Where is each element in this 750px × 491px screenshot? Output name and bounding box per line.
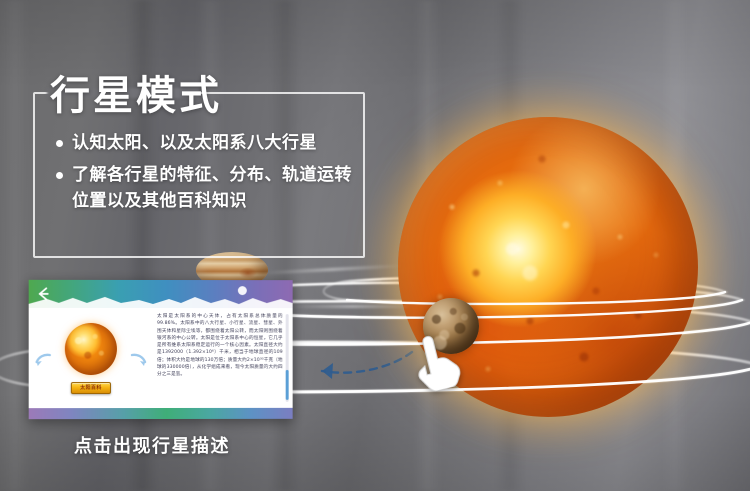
description-column: 太阳是太阳系的中心天体，占有太阳系总体质量的99.86%。太阳系中的八大行星、小…	[153, 308, 293, 408]
bullet-dot-icon	[56, 140, 63, 147]
list-item: 认知太阳、以及太阳系八大行星	[56, 130, 356, 156]
rotate-right-icon[interactable]	[129, 350, 149, 370]
mountain-icon	[29, 294, 293, 308]
planet-preview-column: 太阳百科	[29, 308, 153, 408]
bullet-text: 了解各行星的特征、分布、轨道运转位置以及其他百科知识	[72, 162, 356, 214]
bullet-dot-icon	[56, 172, 63, 179]
panel-caption: 点击出现行星描述	[74, 432, 230, 458]
bullet-text: 认知太阳、以及太阳系八大行星	[72, 130, 317, 156]
app-header-bar	[29, 280, 293, 308]
detail-button[interactable]: 太阳百科	[71, 382, 111, 394]
list-item: 了解各行星的特征、分布、轨道运转位置以及其他百科知识	[56, 162, 356, 214]
description-text: 太阳是太阳系的中心天体，占有太阳系总体质量的99.86%。太阳系中的八大行星、小…	[157, 313, 283, 379]
sun-preview-sphere[interactable]	[65, 322, 117, 374]
rotate-left-icon[interactable]	[33, 350, 53, 370]
page-title: 行星模式	[50, 63, 222, 121]
bullet-list: 认知太阳、以及太阳系八大行星 了解各行星的特征、分布、轨道运转位置以及其他百科知…	[56, 130, 356, 220]
slide-canvas: 行星模式 认知太阳、以及太阳系八大行星 了解各行星的特征、分布、轨道运转位置以及…	[0, 0, 750, 491]
app-footer-bar	[29, 408, 293, 419]
scrollbar-thumb[interactable]	[286, 370, 289, 400]
app-content-area: 太阳百科 太阳是太阳系的中心天体，占有太阳系总体质量的99.86%。太阳系中的八…	[29, 308, 293, 408]
app-preview-panel[interactable]: 太阳百科 太阳是太阳系的中心天体，占有太阳系总体质量的99.86%。太阳系中的八…	[29, 280, 293, 419]
